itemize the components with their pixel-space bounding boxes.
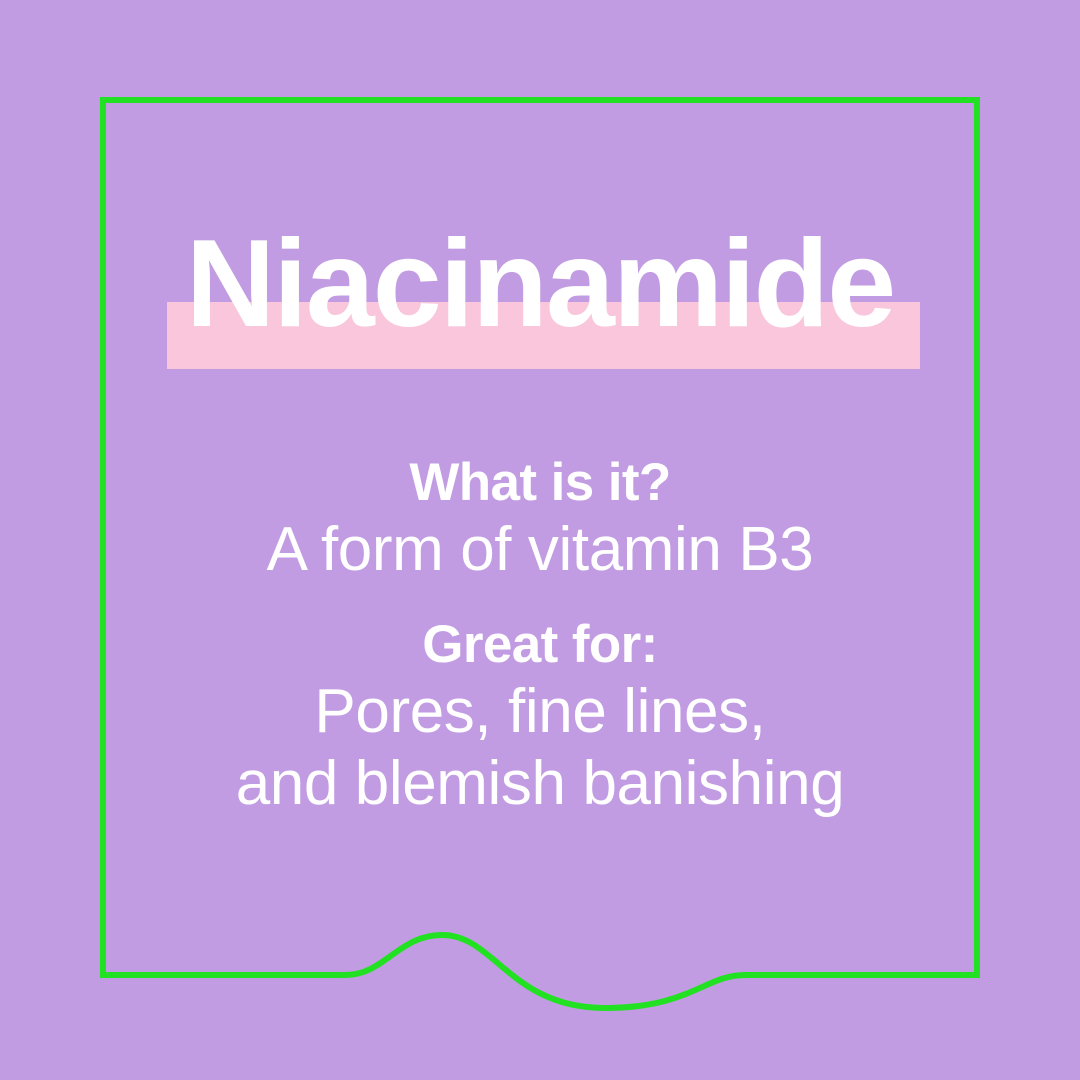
answer-great-for-line-1: Pores, fine lines,	[0, 676, 1080, 748]
answer-great-for-line-2: and blemish banishing	[0, 748, 1080, 820]
content-group-what-is-it: What is it? A form of vitamin B3	[0, 452, 1080, 586]
infographic-card: Niacinamide What is it? A form of vitami…	[0, 0, 1080, 1080]
content-block: What is it? A form of vitamin B3 Great f…	[0, 452, 1080, 820]
heading-what-is-it: What is it?	[0, 452, 1080, 514]
heading-great-for: Great for:	[0, 614, 1080, 676]
content-group-great-for: Great for: Pores, fine lines, and blemis…	[0, 614, 1080, 820]
page-title: Niacinamide	[0, 222, 1080, 346]
group-spacer	[0, 586, 1080, 614]
answer-what-is-it-line-1: A form of vitamin B3	[0, 514, 1080, 586]
